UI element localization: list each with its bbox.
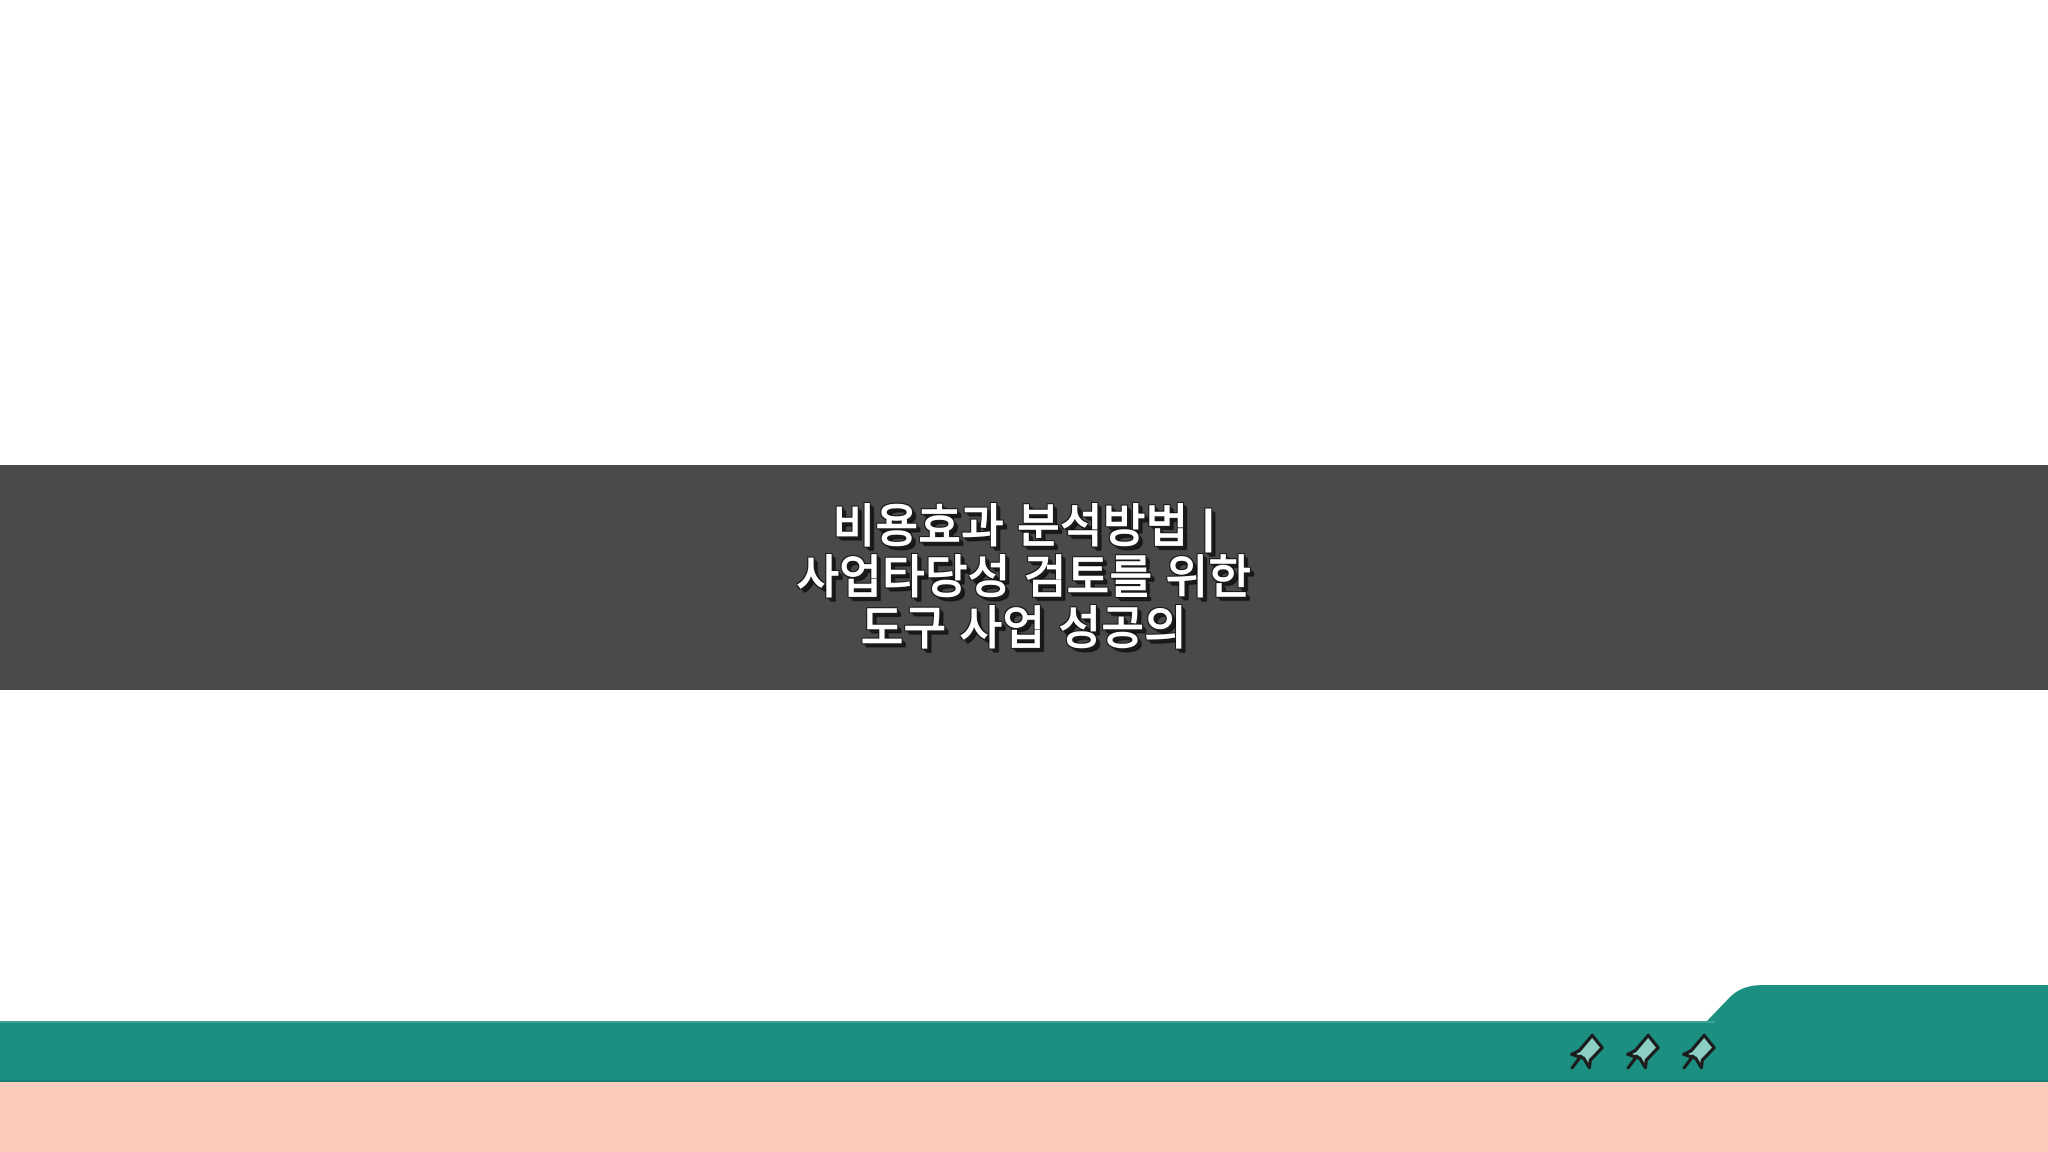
screenshot-stage: 비용효과 분석방법 | 사업타당성 검토를 위한 도구 사업 성공의 xyxy=(0,0,2048,1152)
caption-band: 비용효과 분석방법 | 사업타당성 검토를 위한 도구 사업 성공의 xyxy=(0,465,2048,690)
top-blank-area xyxy=(0,0,2048,465)
sparkle-diamond-icon-1[interactable] xyxy=(1568,1031,1606,1073)
sparkle-diamond-icon-2[interactable] xyxy=(1624,1031,1662,1073)
middle-blank-area xyxy=(0,690,2048,1022)
caption-line-1: 비용효과 분석방법 | xyxy=(833,501,1216,552)
pink-bottom-bar xyxy=(0,1082,2048,1152)
caption-line-2: 사업타당성 검토를 위한 xyxy=(797,552,1252,603)
teal-footer-bar xyxy=(0,975,2048,1085)
sparkle-diamond-icon-3[interactable] xyxy=(1680,1031,1718,1073)
caption-line-3: 도구 사업 성공의 xyxy=(861,603,1187,654)
footer-icon-row xyxy=(1568,1022,1728,1082)
teal-bar-top-seam xyxy=(0,1021,1715,1023)
